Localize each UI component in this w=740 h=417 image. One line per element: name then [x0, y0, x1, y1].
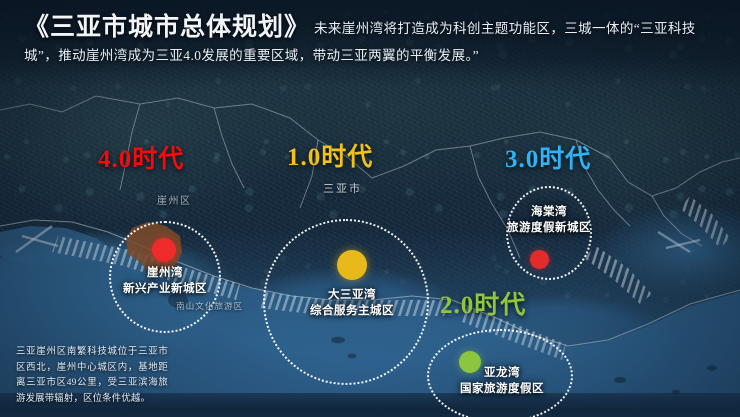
zone-name-haitangwan: 海棠湾: [479, 205, 619, 221]
zone-label-haitangwan: 海棠湾 旅游度假新城区: [479, 205, 619, 236]
description-note: 三亚崖州区南繁科技城位于三亚市区西北，崖州中心城区内，基地距离三亚市区49公里，…: [16, 345, 168, 407]
era-label-2: 2.0时代: [440, 285, 526, 321]
zone-subtitle-dasanyawan: 综合服务主城区: [282, 304, 422, 320]
zone-label-yazhouwan: 崖州湾 新兴产业新城区: [95, 266, 235, 297]
zone-dot-haitangwan[interactable]: [530, 250, 549, 269]
page-title: 《三亚市城市总体规划》: [24, 14, 310, 41]
zone-subtitle-yazhouwan: 新兴产业新城区: [95, 282, 235, 298]
zone-subtitle-haitangwan: 旅游度假新城区: [479, 221, 619, 237]
era-label-4: 4.0时代: [98, 139, 184, 175]
zone-name-dasanyawan: 大三亚湾: [282, 288, 422, 304]
place-label-nanshan: 南山文化旅游区: [176, 300, 243, 312]
zone-dot-yazhouwan[interactable]: [152, 238, 176, 262]
place-label-yazhouqu: 崖州区: [157, 192, 192, 207]
zone-subtitle-yalongwan: 国家旅游度假区: [432, 382, 572, 398]
title-bar: 《三亚市城市总体规划》 未来崖州湾将打造成为科创主题功能区，三城一体的“三亚科技…: [0, 0, 740, 88]
sanya-master-plan-infographic: 《三亚市城市总体规划》 未来崖州湾将打造成为科创主题功能区，三城一体的“三亚科技…: [0, 0, 740, 417]
era-label-1: 1.0时代: [287, 137, 373, 173]
place-label-sanyashi: 三亚市: [323, 180, 362, 196]
zone-name-yazhouwan: 崖州湾: [95, 266, 235, 282]
zone-dot-dasanyawan[interactable]: [337, 250, 367, 280]
era-label-3: 3.0时代: [505, 139, 591, 175]
zone-name-yalongwan: 亚龙湾: [432, 366, 572, 382]
zone-label-yalongwan: 亚龙湾 国家旅游度假区: [432, 366, 572, 397]
zone-label-dasanyawan: 大三亚湾 综合服务主城区: [282, 288, 422, 319]
